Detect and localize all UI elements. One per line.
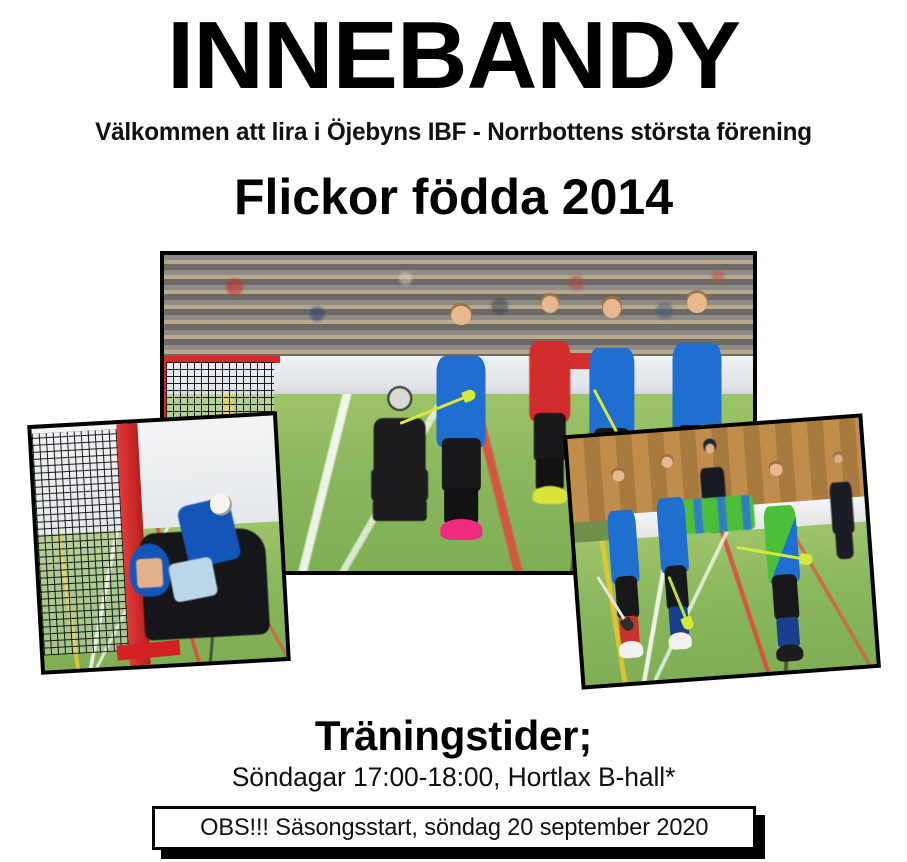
floorball-stick xyxy=(597,576,627,622)
notice-banner: OBS!!! Säsongsstart, söndag 20 september… xyxy=(152,806,756,850)
player-blue-one xyxy=(596,468,653,653)
floorball-stick xyxy=(399,396,465,425)
floorball-stick xyxy=(593,389,623,442)
spectator xyxy=(820,453,864,584)
goal-net xyxy=(166,362,274,488)
player-blue-two xyxy=(645,455,702,645)
page-title: INNEBANDY xyxy=(0,8,907,104)
wood-wall xyxy=(567,418,864,523)
goalkeeper-helmet xyxy=(128,542,172,597)
player-goalkeeper xyxy=(358,388,440,527)
floorball-stick xyxy=(736,546,802,560)
rink-board xyxy=(31,415,279,540)
goal-net xyxy=(32,429,134,656)
court-floor xyxy=(575,521,877,685)
schedule-heading: Träningstider; xyxy=(0,712,907,760)
player-blue-center xyxy=(423,306,500,534)
goalkeeper-photo xyxy=(27,411,291,675)
player-green-vest xyxy=(751,462,815,658)
goalkeeper-face xyxy=(136,557,164,587)
court-floor xyxy=(164,394,753,571)
goal-frame-icon xyxy=(164,356,280,495)
rink-board xyxy=(164,356,753,402)
coach xyxy=(691,442,737,553)
player-blue-right-two xyxy=(659,293,736,521)
goalkeeper-glove-arm xyxy=(176,496,242,569)
player-red xyxy=(517,296,582,498)
goalkeeper-pad xyxy=(167,557,217,603)
court-floor xyxy=(37,522,286,671)
notice-text: OBS!!! Säsongsstart, söndag 20 september… xyxy=(200,814,708,842)
poster-group-heading: Flickor födda 2014 xyxy=(0,168,907,226)
sponsor-board xyxy=(559,353,618,369)
main-match-photo xyxy=(160,251,757,575)
stands xyxy=(164,255,753,362)
rink-board xyxy=(614,496,867,544)
goal-base-bar xyxy=(116,640,180,660)
player-blue-right-one xyxy=(576,299,647,520)
bench-kids-green-vests xyxy=(677,495,755,535)
floorball-ball xyxy=(210,493,233,516)
notice-box: OBS!!! Säsongsstart, söndag 20 september… xyxy=(152,806,756,850)
floorball-stick xyxy=(667,576,687,620)
running-players-photo xyxy=(563,413,881,689)
goalkeeper-body xyxy=(139,527,271,640)
schedule-times: Söndagar 17:00-18:00, Hortlax B-hall* xyxy=(9,762,898,793)
poster-subtitle: Välkommen att lira i Öjebyns IBF - Norrb… xyxy=(14,118,894,147)
goal-post xyxy=(116,423,151,666)
